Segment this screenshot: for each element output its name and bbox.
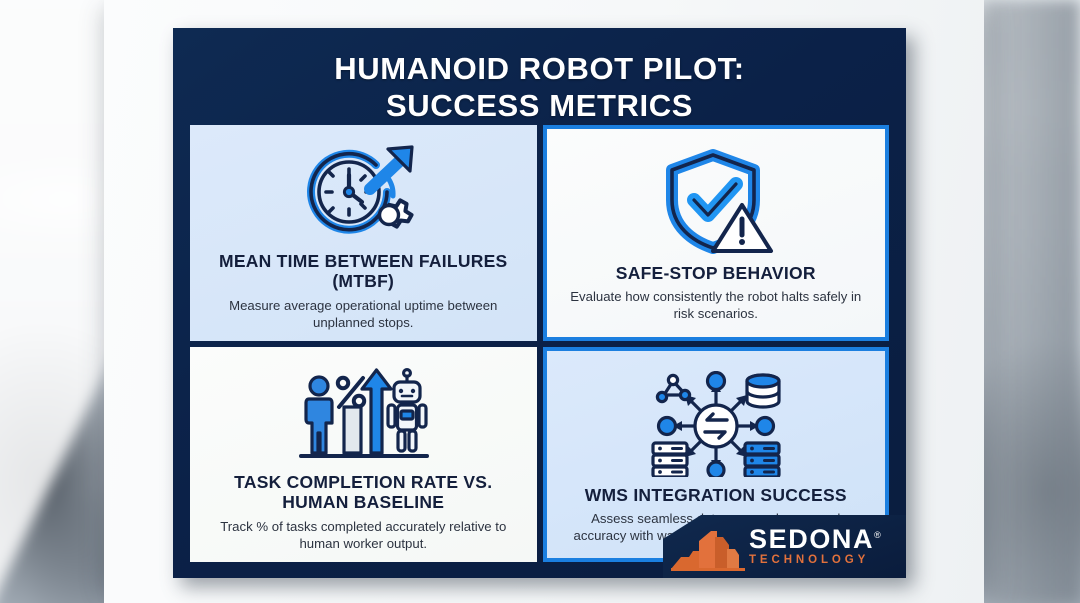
sedona-logo-tagline: TECHNOLOGY xyxy=(749,555,881,567)
metric-card-title: Task Completion Rate vs. Human Baseline xyxy=(206,472,521,513)
metric-card-task-completion: Task Completion Rate vs. Human Baseline … xyxy=(190,347,537,563)
sedona-logo-text: SEDONA® TECHNOLOGY xyxy=(749,526,881,567)
clock-arrow-gear-icon xyxy=(302,139,424,249)
page-title: Humanoid Robot Pilot: Success Metrics xyxy=(173,28,906,138)
metric-card-description: Evaluate how consistently the robot halt… xyxy=(566,288,866,322)
sedona-logo-name: SEDONA® xyxy=(749,526,881,553)
metric-card-mtbf: Mean Time Between Failures (MTBF) Measur… xyxy=(190,125,537,341)
sedona-logo: SEDONA® TECHNOLOGY xyxy=(663,515,906,578)
metrics-card-grid: Mean Time Between Failures (MTBF) Measur… xyxy=(190,125,889,562)
metric-card-description: Track % of tasks completed accurately re… xyxy=(213,518,513,552)
metric-card-title: WMS Integration Success xyxy=(585,485,847,505)
page-title-line-2: Success Metrics xyxy=(213,87,866,124)
office-background-right-shade xyxy=(985,0,1080,603)
sedona-logo-name-text: SEDONA xyxy=(749,524,874,554)
metric-card-description: Measure average operational uptime betwe… xyxy=(213,297,513,331)
network-sync-database-icon xyxy=(651,365,781,483)
sedona-mesa-icon xyxy=(671,523,745,571)
infographic-poster: Humanoid Robot Pilot: Success Metrics xyxy=(173,28,906,578)
metric-card-title: Safe-Stop Behavior xyxy=(616,263,816,283)
registered-mark: ® xyxy=(874,530,881,540)
metric-card-safe-stop: Safe-Stop Behavior Evaluate how consiste… xyxy=(543,125,890,341)
shield-check-warning-icon xyxy=(658,143,774,261)
human-robot-bar-chart-icon xyxy=(297,361,429,471)
metric-card-title: Mean Time Between Failures (MTBF) xyxy=(206,251,521,292)
screenshot-scene: Humanoid Robot Pilot: Success Metrics xyxy=(0,0,1080,603)
page-title-line-1: Humanoid Robot Pilot: xyxy=(213,50,866,87)
